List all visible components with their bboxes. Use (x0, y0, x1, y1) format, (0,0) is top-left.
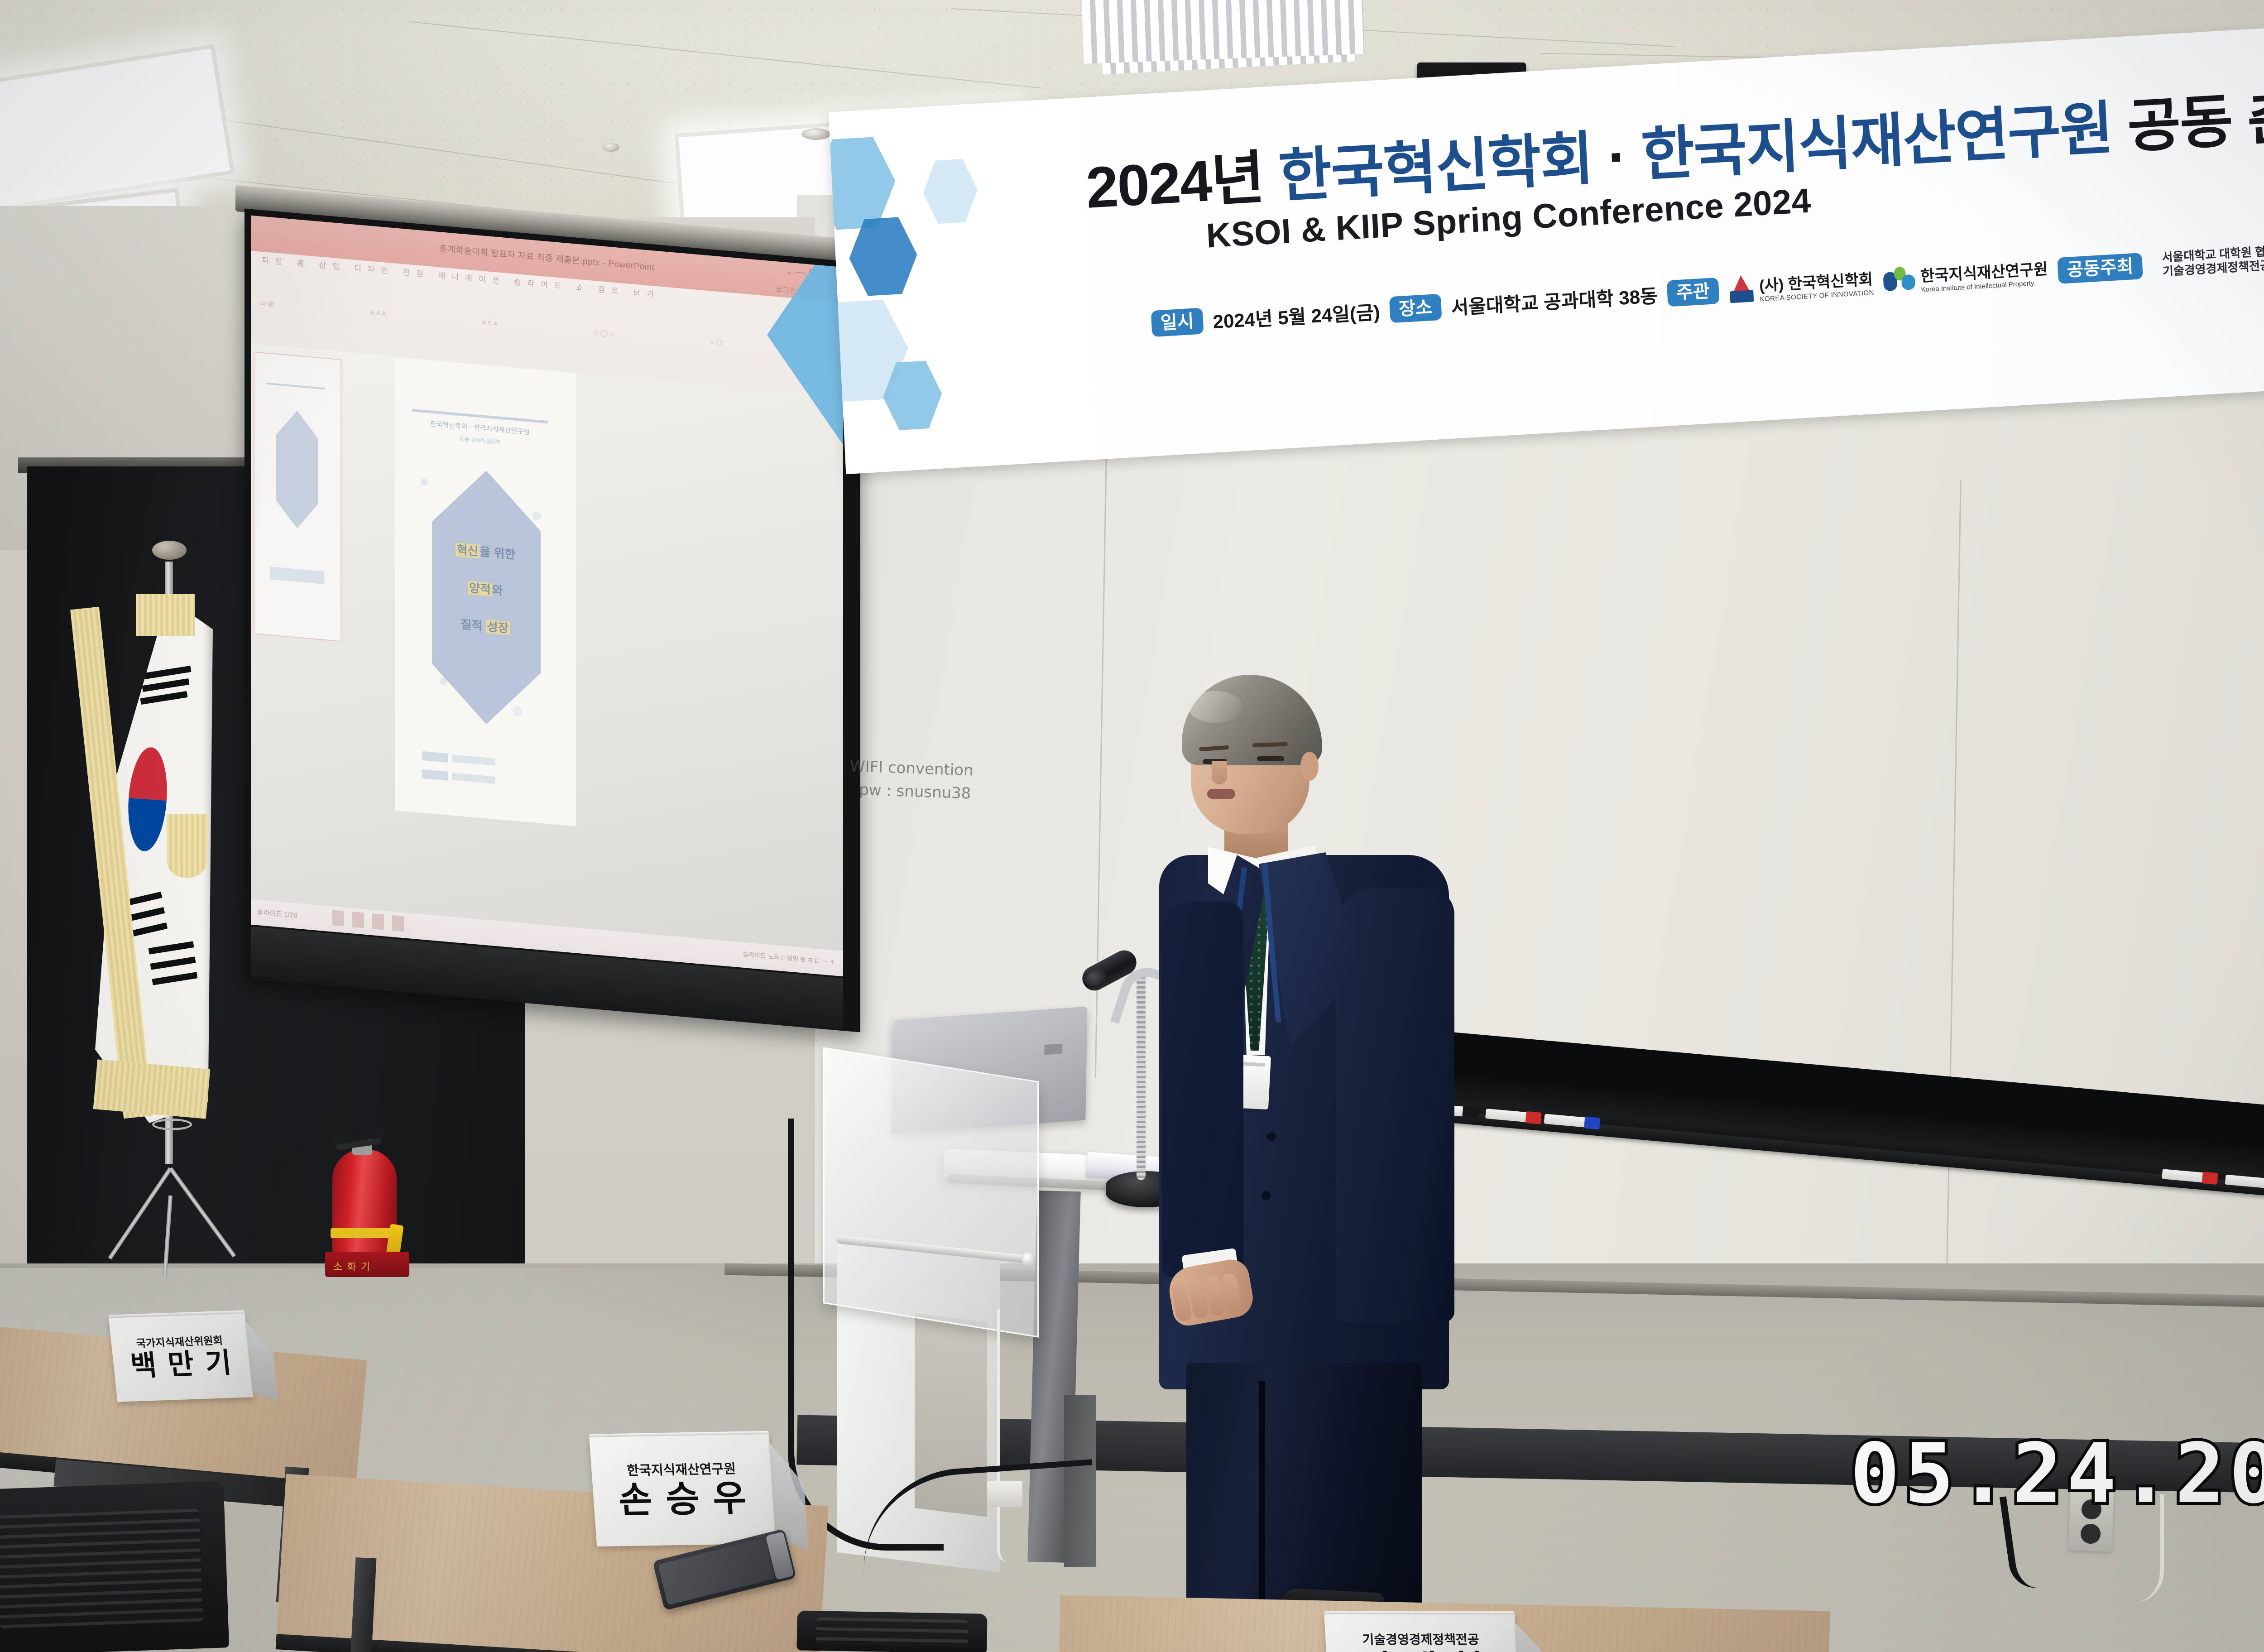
slide-text-hl-1: 혁신 (456, 543, 480, 558)
slide-text-3: 질적 (461, 617, 483, 633)
name-placard-3: 기술경영경제정책전공 김 태 현 (1324, 1614, 1519, 1652)
logo-ksoi: (사) 한국혁신학회 KOREA SOCIETY OF INNOVATION (1728, 266, 1874, 305)
slide-text-hl-2: 양적 (468, 581, 492, 597)
meta-value-venue: 서울대학교 공과대학 38동 (1450, 280, 1658, 320)
meta-value-date: 2024년 5월 24일(금) (1212, 297, 1381, 334)
speaker-person (1123, 675, 1467, 1626)
speaker-mouth (1207, 789, 1235, 799)
korean-flag-stand (68, 534, 258, 1277)
placard-3-organization: 기술경영경제정책전공 (1362, 1633, 1479, 1646)
banner-title-suffix: 공동 춘계학술대회 (2126, 69, 2264, 159)
extinguisher-label: 소 화 기 (333, 1259, 371, 1273)
speaker-ear (1300, 752, 1319, 781)
speaker-eye-right (1257, 756, 1284, 761)
ceiling-light-louver-D (1081, 0, 1365, 64)
logo-kiip: 한국지식재산연구원 Korea Institute of Intellectua… (1883, 256, 2048, 296)
projection-screen-surface: 춘계학술대회 발표자 자료 최종 제출본.pptx - PowerPoint ⌄… (251, 216, 843, 976)
banner-title-separator: · (1606, 124, 1627, 190)
meta-pill-host: 주관 (1667, 278, 1719, 307)
jacket-button-1 (1267, 1132, 1276, 1141)
whiteboard-handwriting: WIFI convention pw : snusnu38 (849, 755, 974, 805)
wifi-ssid-note: WIFI convention (849, 755, 974, 782)
photograph-scene: 춘계학술대회 발표자 자료 최종 제출본.pptx - PowerPoint ⌄… (0, 0, 2264, 1652)
speaker-left-arm (1162, 901, 1243, 1277)
sprinkler-head-icon (602, 143, 619, 152)
kiip-mark-icon (1883, 265, 1917, 295)
extinguisher-cylinder (332, 1149, 397, 1256)
chair-2[interactable] (796, 1610, 987, 1652)
placard-2-name: 손 승 우 (618, 1480, 749, 1518)
flag-gold-tassel (167, 814, 207, 878)
flag-gold-fringe-top (136, 594, 195, 636)
speaker-nose (1212, 761, 1227, 784)
flagpole-finial-icon (152, 541, 187, 560)
flag-tripod-leg-3 (163, 1196, 173, 1277)
extinguisher-base: 소 화 기 (325, 1252, 409, 1277)
slide-text-1: 을 위한 (480, 545, 515, 562)
slide-text-hl-3: 성장 (486, 619, 510, 635)
placard-1-name: 백 만 기 (129, 1349, 234, 1381)
banner-title-year: 2024년 (1084, 145, 1265, 221)
slide-thumbnail-pane[interactable] (254, 351, 341, 642)
flagpole-collar (152, 1119, 192, 1130)
jacket-button-2 (1262, 1191, 1271, 1200)
smoke-detector-icon (801, 128, 830, 140)
status-bar-controls[interactable]: 슬라이드 노트 □ 설명 ⊞ ⊟ ⊡ － ＋ (743, 950, 836, 967)
slide-counter: 슬라이드 1/28 (257, 907, 297, 920)
flag-tripod-leg-1 (108, 1167, 173, 1259)
flag-tripod-leg-2 (169, 1167, 236, 1257)
placard-2-organization: 한국지식재산연구원 (627, 1463, 736, 1478)
placard-1-organization: 국가지식재산위원회 (136, 1335, 223, 1349)
speaker-trouser-crease (1259, 1381, 1265, 1626)
speaker-hair (1182, 675, 1322, 765)
meta-pill-venue: 장소 (1389, 294, 1442, 323)
banner-left-decoration (829, 97, 1099, 474)
camera-date-stamp: 05.24.2024 (1850, 1426, 2264, 1522)
date-stamp-text: 05.24.2024 (1850, 1426, 2264, 1522)
floor-outlet-box[interactable] (987, 1481, 1022, 1507)
taeguk-circle-icon (125, 746, 170, 852)
slide-text-2: 와 (492, 583, 503, 597)
ksoi-mark-icon (1728, 274, 1756, 304)
chair-1[interactable] (0, 1481, 229, 1652)
fire-extinguisher[interactable]: 소 화 기 (317, 1124, 426, 1278)
snu-crest-icon (2151, 246, 2153, 285)
slide-logo-strip (422, 749, 549, 799)
flag-gold-fringe-bottom (93, 1059, 211, 1119)
projection-screen: 춘계학술대회 발표자 자료 최종 제출본.pptx - PowerPoint ⌄… (245, 209, 860, 1032)
wifi-password-note: pw : snusnu38 (859, 778, 973, 806)
meta-pill-date: 일시 (1151, 308, 1204, 337)
name-placard-2: 한국지식재산연구원 손 승 우 (589, 1434, 776, 1546)
name-placard-1: 국가지식재산위원회 백 만 기 (109, 1313, 254, 1402)
taskbar-app-icons[interactable] (332, 910, 404, 932)
current-slide: 한국혁신학회 · 한국지식재산연구원 공동 춘계학술대회 혁신을 위한 양적와 … (395, 358, 576, 826)
meta-pill-cohost: 공동주최 (2057, 253, 2143, 284)
